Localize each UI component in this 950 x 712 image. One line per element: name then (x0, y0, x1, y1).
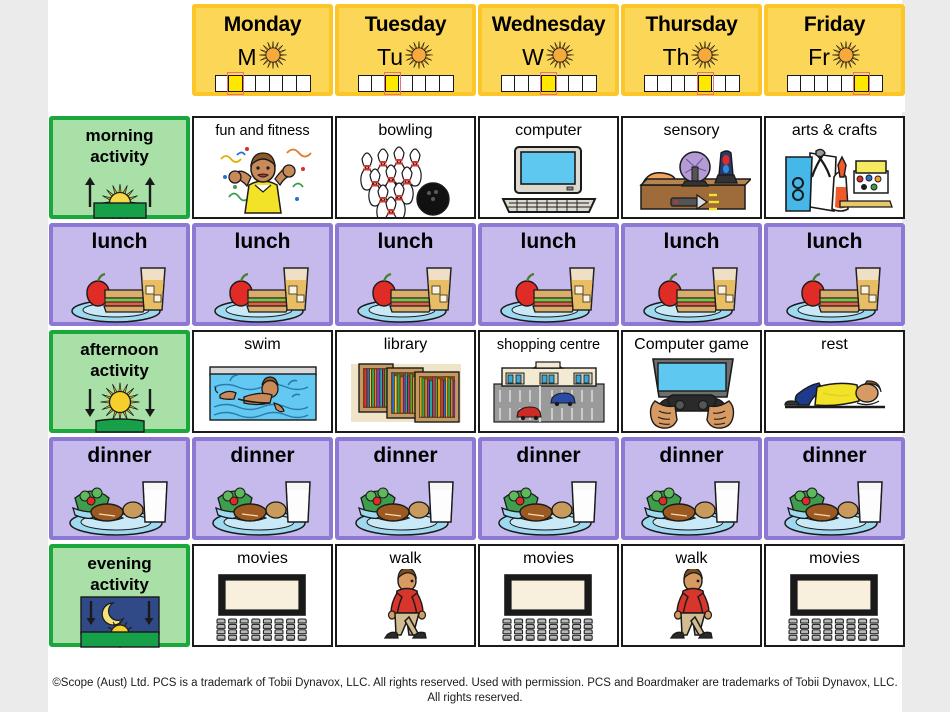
cell-label: movies (237, 546, 288, 569)
schedule-cell-morning-1[interactable]: bowling (335, 116, 476, 219)
row-label-cell-dinner[interactable]: dinner (49, 437, 190, 540)
sunrise-up-arrows-icon (53, 167, 186, 219)
sun-icon (689, 40, 720, 75)
schedule-cell-dinner-0[interactable]: dinner (192, 437, 333, 540)
meal-card-dinner[interactable]: dinner (192, 437, 333, 540)
cell-label: movies (809, 546, 860, 569)
day-abbrev-row: Fr (808, 40, 861, 74)
cell-label: library (384, 332, 428, 355)
arts-crafts-icon (766, 141, 903, 217)
schedule-cell-lunch-4[interactable]: lunch (764, 223, 905, 326)
row-label-cell-afternoon[interactable]: afternoon activity (49, 330, 190, 433)
day-abbrev-row: M (237, 40, 287, 74)
schedule-cell-morning-2[interactable]: computer (478, 116, 619, 219)
gamepad-hands-icon (623, 355, 760, 431)
day-abbrev-row: Tu (377, 40, 434, 74)
cell-label: lunch (664, 227, 720, 254)
row-label-line1: morning (86, 126, 154, 145)
schedule-cell-evening-0[interactable]: movies (192, 544, 333, 647)
walking-person-icon (337, 569, 474, 645)
cell-label: arts & crafts (792, 118, 877, 141)
cell-label: sensory (663, 118, 719, 141)
celebrating-person-icon (194, 141, 331, 217)
cell-label: lunch (235, 227, 291, 254)
cinema-screen-seats-icon (766, 569, 903, 645)
row-label-lunch[interactable]: lunch (49, 223, 190, 326)
cell-label: movies (523, 546, 574, 569)
activity-card[interactable]: sensory (621, 116, 762, 219)
dinner-plate-icon (53, 468, 186, 538)
activity-card[interactable]: library (335, 330, 476, 433)
activity-card[interactable]: movies (478, 544, 619, 647)
schedule-cell-lunch-1[interactable]: lunch (335, 223, 476, 326)
day-name: Tuesday (365, 12, 447, 38)
week-position-strip (787, 75, 883, 92)
day-name: Wednesday (492, 12, 606, 38)
cell-label: dinner (373, 441, 437, 468)
schedule-cell-morning-0[interactable]: fun and fitness (192, 116, 333, 219)
sun-icon (544, 40, 575, 75)
row-label-line2: activity (90, 147, 149, 166)
dinner-plate-icon (339, 468, 472, 538)
day-header-cell-tuesday[interactable]: Tuesday Tu (335, 4, 476, 112)
day-abbrev: Th (663, 45, 690, 69)
dinner-plate-icon (625, 468, 758, 538)
weekly-visual-schedule-grid: Monday M Tuesday Tu Wednesday (48, 4, 902, 651)
schedule-cell-dinner-2[interactable]: dinner (478, 437, 619, 540)
schedule-row-dinner: dinner dinner (48, 437, 902, 544)
activity-card[interactable]: computer (478, 116, 619, 219)
schedule-row-lunch: lunch lunch (48, 223, 902, 330)
meal-card-lunch[interactable]: lunch (764, 223, 905, 326)
schedule-cell-afternoon-3[interactable]: Computer game (621, 330, 762, 433)
lunch-plate-icon (482, 254, 615, 324)
cell-label: Computer game (634, 332, 749, 355)
walking-person-icon (623, 569, 760, 645)
cell-label: fun and fitness (215, 118, 309, 141)
activity-card[interactable]: shopping centre (478, 330, 619, 433)
activity-card[interactable]: fun and fitness (192, 116, 333, 219)
cell-label: lunch (807, 227, 863, 254)
cell-label: lunch (521, 227, 577, 254)
activity-card[interactable]: bowling (335, 116, 476, 219)
schedule-cell-evening-3[interactable]: walk (621, 544, 762, 647)
day-header-wednesday[interactable]: Wednesday W (478, 4, 619, 96)
cinema-screen-seats-icon (194, 569, 331, 645)
cell-label: shopping centre (497, 332, 600, 355)
activity-card[interactable]: movies (764, 544, 905, 647)
activity-card[interactable]: walk (621, 544, 762, 647)
schedule-cell-evening-4[interactable]: movies (764, 544, 905, 647)
cell-label: dinner (802, 441, 866, 468)
copyright-footer: ©Scope (Aust) Ltd. PCS is a trademark of… (48, 676, 902, 706)
row-label-line2: activity (90, 361, 149, 380)
schedule-row-afternoon: afternoon activity swim (48, 330, 902, 437)
bookshelves-icon (337, 355, 474, 431)
person-lying-down-icon (766, 355, 903, 431)
schedule-cell-afternoon-1[interactable]: library (335, 330, 476, 433)
meal-card-lunch[interactable]: lunch (192, 223, 333, 326)
row-label-cell-lunch[interactable]: lunch (49, 223, 190, 326)
day-header-tuesday[interactable]: Tuesday Tu (335, 4, 476, 96)
moon-sunset-down-arrows-icon (53, 595, 186, 649)
sun-icon (830, 40, 861, 75)
cinema-screen-seats-icon (480, 569, 617, 645)
meal-card-lunch[interactable]: lunch (335, 223, 476, 326)
schedule-row-evening: evening activity movies walk (48, 544, 902, 651)
dinner-plate-icon (768, 468, 901, 538)
activity-card[interactable]: arts & crafts (764, 116, 905, 219)
row-label-cell-morning[interactable]: morning activity (49, 116, 190, 219)
week-strip-cell (868, 75, 883, 92)
activity-card[interactable]: rest (764, 330, 905, 433)
lunch-plate-icon (196, 254, 329, 324)
schedule-sheet: Monday M Tuesday Tu Wednesday (48, 0, 902, 712)
meal-card-dinner[interactable]: dinner (764, 437, 905, 540)
row-label-afternoon[interactable]: afternoon activity (49, 330, 190, 433)
activity-card[interactable]: walk (335, 544, 476, 647)
cell-label: computer (515, 118, 582, 141)
meal-card-dinner[interactable]: dinner (478, 437, 619, 540)
schedule-row-morning: morning activity fun and fitness (48, 116, 902, 223)
lunch-plate-icon (339, 254, 472, 324)
day-abbrev: M (237, 45, 256, 69)
row-label-text: dinner (87, 441, 151, 468)
day-abbrev: W (522, 45, 544, 69)
schedule-cell-dinner-3[interactable]: dinner (621, 437, 762, 540)
day-header-cell-friday[interactable]: Friday Fr (764, 4, 905, 112)
sun-down-arrows-icon (53, 381, 186, 433)
row-label-line1: afternoon (80, 340, 158, 359)
day-name: Thursday (645, 12, 737, 38)
lunch-plate-icon (768, 254, 901, 324)
cell-label: walk (389, 546, 421, 569)
day-abbrev-row: Th (663, 40, 721, 74)
bowling-pins-ball-icon (337, 141, 474, 217)
cell-label: bowling (378, 118, 432, 141)
activity-card[interactable]: swim (192, 330, 333, 433)
sun-icon (257, 40, 288, 75)
cell-label: dinner (516, 441, 580, 468)
cell-label: dinner (659, 441, 723, 468)
week-position-strip (215, 75, 311, 92)
schedule-cell-afternoon-0[interactable]: swim (192, 330, 333, 433)
activity-card[interactable]: Computer game (621, 330, 762, 433)
desktop-computer-icon (480, 141, 617, 217)
schedule-cell-evening-1[interactable]: walk (335, 544, 476, 647)
cell-label: swim (244, 332, 280, 355)
week-strip-cell (439, 75, 454, 92)
day-name: Monday (224, 12, 302, 38)
swimmer-icon (194, 355, 331, 431)
day-header-cell-thursday[interactable]: Thursday Th (621, 4, 762, 112)
schedule-cell-dinner-1[interactable]: dinner (335, 437, 476, 540)
sun-icon (403, 40, 434, 75)
week-position-strip (358, 75, 454, 92)
row-label-evening[interactable]: evening activity (49, 544, 190, 647)
cell-label: dinner (230, 441, 294, 468)
cell-label: walk (675, 546, 707, 569)
day-name: Friday (804, 12, 865, 38)
row-label-line1: evening (87, 554, 151, 573)
meal-card-lunch[interactable]: lunch (621, 223, 762, 326)
lunch-plate-icon (625, 254, 758, 324)
day-abbrev: Tu (377, 45, 403, 69)
day-header-friday[interactable]: Friday Fr (764, 4, 905, 96)
row-label-text: evening activity (87, 548, 151, 595)
schedule-cell-afternoon-2[interactable]: shopping centre (478, 330, 619, 433)
day-header-cell-wednesday[interactable]: Wednesday W (478, 4, 619, 112)
cell-label: rest (821, 332, 848, 355)
row-label-text: morning activity (86, 120, 154, 167)
schedule-cell-lunch-3[interactable]: lunch (621, 223, 762, 326)
day-header-cell-monday[interactable]: Monday M (192, 4, 333, 112)
header-row: Monday M Tuesday Tu Wednesday (48, 4, 902, 116)
dinner-plate-icon (196, 468, 329, 538)
mall-carpark-icon (480, 355, 617, 431)
row-label-line2: activity (90, 575, 149, 594)
schedule-cell-afternoon-4[interactable]: rest (764, 330, 905, 433)
cell-label: lunch (378, 227, 434, 254)
schedule-cell-lunch-2[interactable]: lunch (478, 223, 619, 326)
week-position-strip (501, 75, 597, 92)
day-abbrev-row: W (522, 40, 575, 74)
schedule-cell-evening-2[interactable]: movies (478, 544, 619, 647)
row-label-cell-evening[interactable]: evening activity (49, 544, 190, 647)
sensory-table-icon (623, 141, 760, 217)
activity-card[interactable]: movies (192, 544, 333, 647)
dinner-plate-icon (482, 468, 615, 538)
day-abbrev: Fr (808, 45, 830, 69)
schedule-cell-lunch-0[interactable]: lunch (192, 223, 333, 326)
row-label-text: afternoon activity (80, 334, 158, 381)
week-strip-cell (725, 75, 740, 92)
row-label-dinner[interactable]: dinner (49, 437, 190, 540)
header-corner-blank (49, 4, 190, 112)
meal-card-lunch[interactable]: lunch (478, 223, 619, 326)
row-label-text: lunch (92, 227, 148, 254)
day-header-monday[interactable]: Monday M (192, 4, 333, 96)
week-position-strip (644, 75, 740, 92)
schedule-cell-morning-3[interactable]: sensory (621, 116, 762, 219)
schedule-cell-morning-4[interactable]: arts & crafts (764, 116, 905, 219)
schedule-cell-dinner-4[interactable]: dinner (764, 437, 905, 540)
meal-card-dinner[interactable]: dinner (335, 437, 476, 540)
row-label-morning[interactable]: morning activity (49, 116, 190, 219)
week-strip-cell (296, 75, 311, 92)
day-header-thursday[interactable]: Thursday Th (621, 4, 762, 96)
meal-card-dinner[interactable]: dinner (621, 437, 762, 540)
lunch-plate-icon (53, 254, 186, 324)
week-strip-cell (582, 75, 597, 92)
